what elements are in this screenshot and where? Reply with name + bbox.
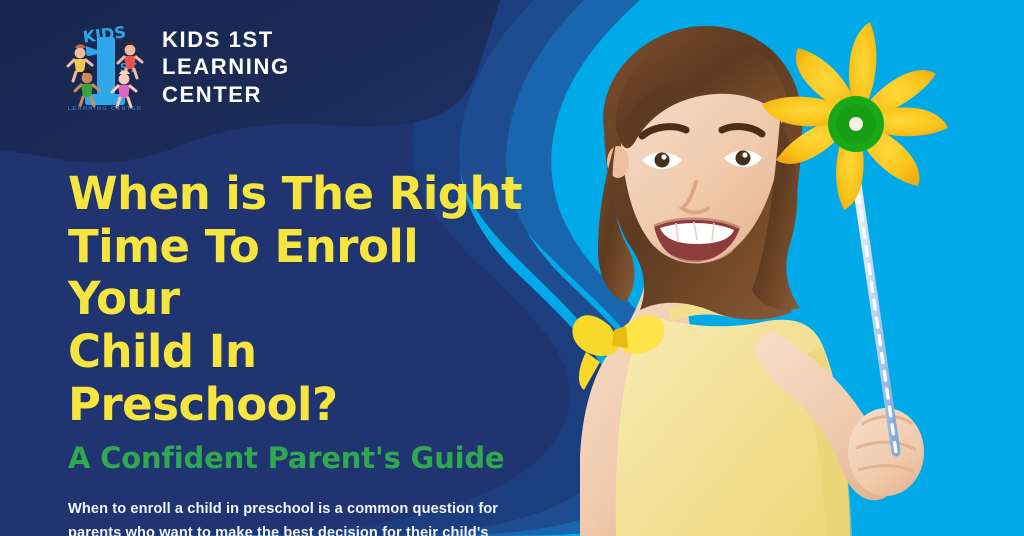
brand-logo-lockup[interactable]: ST KIDS bbox=[64, 24, 290, 110]
pinwheel-pin bbox=[849, 117, 863, 131]
headline: When is The Right Time To Enroll Your Ch… bbox=[68, 168, 538, 431]
copy-block: When is The Right Time To Enroll Your Ch… bbox=[68, 168, 538, 536]
logo-emblem-icon: ST KIDS bbox=[64, 24, 146, 110]
logo-footer-text: LEARNING CENTER bbox=[68, 106, 143, 110]
hero-banner: ST KIDS bbox=[0, 0, 1024, 536]
lede-paragraph: When to enroll a child in preschool is a… bbox=[68, 498, 516, 536]
hand bbox=[848, 408, 924, 496]
brand-wordmark: KIDS 1ST LEARNING CENTER bbox=[162, 26, 290, 107]
subheadline: A Confident Parent's Guide bbox=[68, 441, 538, 476]
girl-with-pinwheel-photo bbox=[556, 0, 1024, 536]
logo-kids-text: KIDS bbox=[82, 24, 127, 47]
